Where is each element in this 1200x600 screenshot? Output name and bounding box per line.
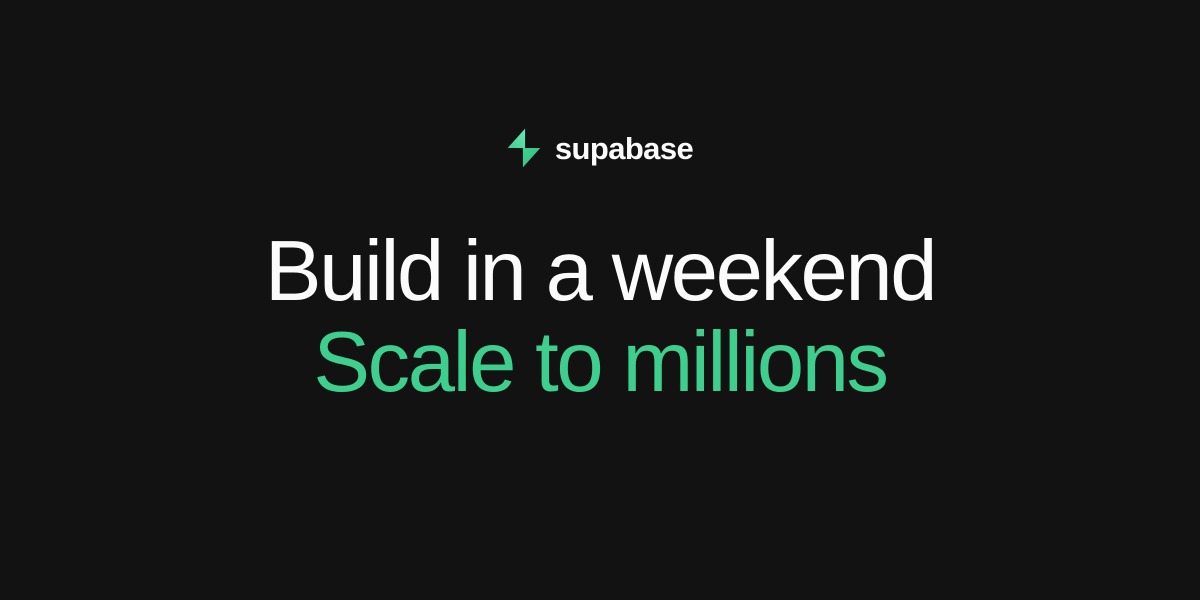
hero-section: supabase Build in a weekend Scale to mil… [0,0,1200,600]
headline-line-scale: Scale to millions [265,317,935,408]
hero-headline: Build in a weekend Scale to millions [265,226,935,408]
supabase-bolt-icon [507,128,541,168]
supabase-logo-lockup[interactable]: supabase [507,126,693,170]
headline-line-build: Build in a weekend [265,226,935,317]
supabase-wordmark: supabase [555,133,693,164]
